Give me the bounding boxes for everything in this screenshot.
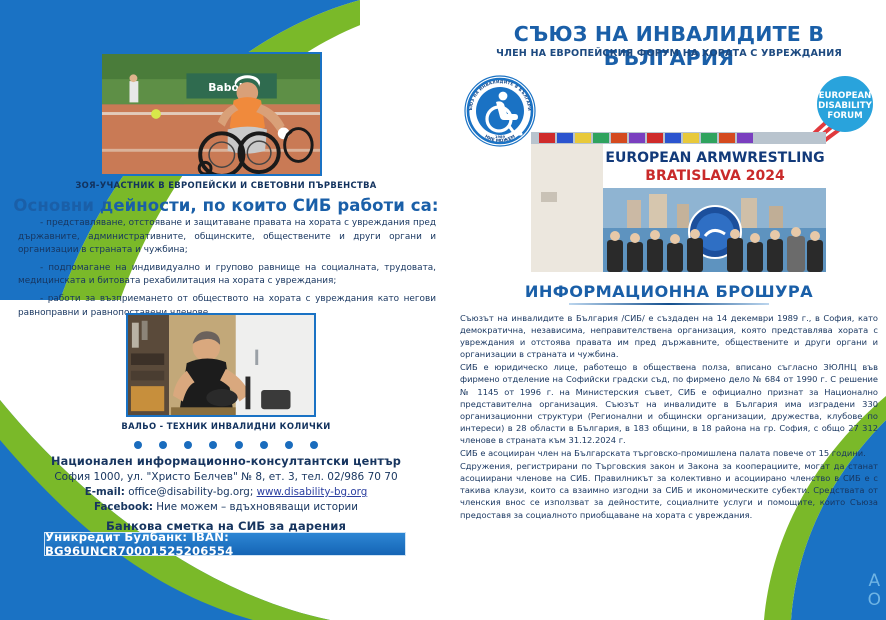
svg-text:EUROPEAN: EUROPEAN	[819, 91, 872, 101]
svg-text:BRATISLAVA 2024: BRATISLAVA 2024	[645, 168, 785, 184]
website-link[interactable]: www.disability-bg.org	[257, 486, 368, 498]
separator-dot	[260, 441, 268, 449]
facebook-value[interactable]: Ние можем – вдъхновяващи истории	[156, 501, 358, 513]
activities-list: - представляване, отстояване и защитаван…	[18, 217, 436, 324]
activity-item: - представляване, отстояване и защитаван…	[18, 217, 436, 258]
about-text: Съюзът на инвалидите в България /СИБ/ е …	[460, 312, 878, 522]
about-paragraph: СИБ е асоцииран член на Българската търг…	[460, 447, 878, 459]
page-subtitle: ЧЛЕН НА ЕВРОПЕЙСКИЯ ФОРУМ НА ХОРАТА С УВ…	[452, 48, 886, 59]
iban-banner: Уникредит Булбанк: IBAN: BG96UNCR7000152…	[44, 532, 406, 556]
page-title: СЪЮЗ НА ИНВАЛИДИТЕ В БЪЛГАРИЯ	[452, 22, 886, 70]
watermark-line-1: А	[868, 572, 882, 591]
email-value[interactable]: office@disability-bg.org;	[128, 486, 253, 498]
photo-armwrestling: EUROPEAN ARMWRESTLING BRATISLAVA 2024	[531, 132, 826, 272]
separator-dot	[285, 441, 293, 449]
about-paragraph: Съюзът на инвалидите в България /СИБ/ е …	[460, 312, 878, 360]
svg-text:EUROPEAN ARMWRESTLING: EUROPEAN ARMWRESTLING	[605, 150, 824, 166]
activities-heading: Основни дейности, по които СИБ работи са…	[0, 196, 452, 215]
about-paragraph: СИБ е юридическо лице, работещо в общест…	[460, 361, 878, 446]
photo-tennis-caption: ЗОЯ-УЧАСТНИК В ЕВРОПЕЙСКИ И СВЕТОВНИ ПЪР…	[0, 180, 452, 190]
contact-address: София 1000, ул. "Христо Белчев" № 8, ет.…	[0, 471, 452, 483]
dots-separator	[0, 434, 452, 453]
facebook-label: Facebook:	[94, 501, 153, 513]
contact-center-title: Национален информационно-консултантски ц…	[0, 455, 452, 468]
corner-watermark: А О	[868, 572, 882, 610]
contact-block: Национален информационно-консултантски ц…	[0, 455, 452, 533]
contact-email-line: E-mail: office@disability-bg.org; www.di…	[0, 486, 452, 498]
svg-text:DISABILITY: DISABILITY	[818, 101, 872, 111]
photo-tennis: Babolat	[100, 52, 322, 176]
brochure-page: Babolat	[0, 0, 886, 620]
svg-text:FORUM: FORUM	[827, 111, 862, 121]
separator-dot	[184, 441, 192, 449]
separator-dot	[209, 441, 217, 449]
brochure-heading: ИНФОРМАЦИОННА БРОШУРА	[452, 282, 886, 301]
photo-technician	[126, 313, 316, 417]
watermark-line-2: О	[868, 591, 882, 610]
separator-dot	[310, 441, 318, 449]
email-label: E-mail:	[85, 486, 125, 498]
svg-text:1989: 1989	[495, 135, 506, 139]
sib-logo: СЪЮЗ НА ИНВАЛИДИТЕ В БЪЛГАРИЯ НИЕ МОЖЕМ …	[463, 74, 537, 148]
activity-item: - подпомагане на индивидуално и групово …	[18, 262, 436, 289]
separator-dot	[134, 441, 142, 449]
left-column: Babolat	[0, 0, 452, 620]
right-column: СЪЮЗ НА ИНВАЛИДИТЕ В БЪЛГАРИЯ ЧЛЕН НА ЕВ…	[452, 0, 886, 620]
photo-technician-caption: ВАЛЬО - ТЕХНИК ИНВАЛИДНИ КОЛИЧКИ	[0, 421, 452, 431]
about-paragraph: Сдружения, регистрирани по Търговския за…	[460, 460, 878, 520]
contact-facebook-line: Facebook: Ние можем – вдъхновяващи истор…	[0, 501, 452, 513]
separator-dot	[159, 441, 167, 449]
separator-dot	[235, 441, 243, 449]
heading-rule	[569, 303, 769, 305]
